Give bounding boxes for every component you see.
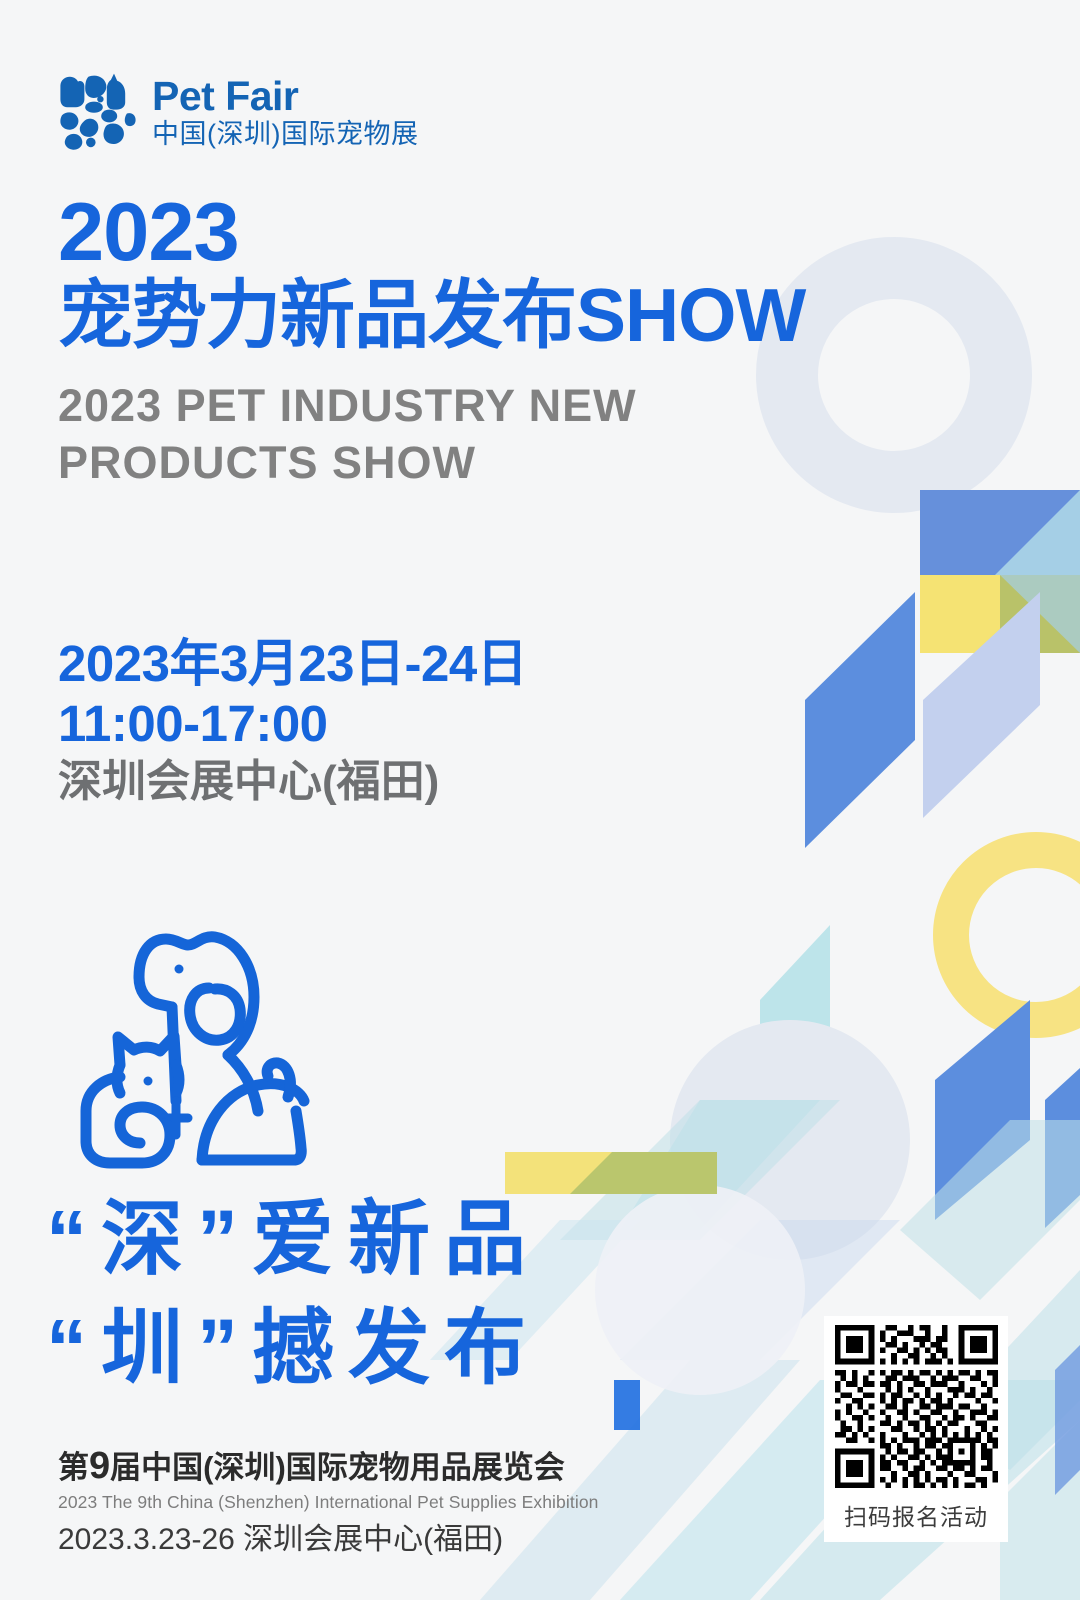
- footer-title-cn: 第9届中国(深圳)国际宠物用品展览会: [58, 1443, 598, 1489]
- footer-title-prefix: 第: [58, 1450, 89, 1485]
- headline-subtitle-line1: 2023 PET INDUSTRY NEW: [58, 377, 805, 435]
- pale-circle-low: [595, 1185, 805, 1395]
- footer-title-en: 2023 The 9th China (Shenzhen) Internatio…: [58, 1491, 598, 1515]
- headline-subtitle-line2: PRODUCTS SHOW: [58, 434, 805, 492]
- deco-sliver-periwinkle-1: [1055, 1345, 1080, 1495]
- slogan-line-2: “圳”撼发布: [46, 1294, 540, 1403]
- qr-code-icon[interactable]: [835, 1325, 998, 1488]
- event-venue: 深圳会展中心(福田): [58, 756, 527, 808]
- pet-fair-logo: Pet Fair 中国(深圳)国际宠物展: [58, 72, 418, 152]
- pet-fair-animal-collage-logo-icon: [58, 72, 138, 152]
- poster-canvas: Pet Fair 中国(深圳)国际宠物展 2023 宠势力新品发布SHOW 20…: [0, 0, 1080, 1600]
- footer-title-suffix: 届中国(深圳)国际宠物用品展览会: [110, 1450, 565, 1485]
- headline-main-title: 宠势力新品发布SHOW: [58, 276, 805, 355]
- qr-registration-card[interactable]: 扫码报名活动: [824, 1316, 1008, 1542]
- slogan-block: “深”爱新品 “圳”撼发布: [46, 1185, 540, 1403]
- footer-block: 第9届中国(深圳)国际宠物用品展览会 2023 The 9th China (S…: [58, 1443, 598, 1559]
- dog-and-cat-line-art-icon: [42, 905, 342, 1175]
- qr-caption: 扫码报名活动: [844, 1498, 988, 1532]
- deco-parallelogram-periwinkle-1: [805, 592, 915, 848]
- logo-chinese-text: 中国(深圳)国际宠物展: [152, 121, 418, 148]
- slogan-line-1: “深”爱新品: [46, 1185, 540, 1294]
- event-date: 2023年3月23日-24日: [58, 634, 527, 694]
- event-info-block: 2023年3月23日-24日 11:00-17:00 深圳会展中心(福田): [58, 634, 527, 808]
- headline-year: 2023: [58, 193, 805, 272]
- deco-sliver-blue-1: [614, 1380, 640, 1430]
- footer-date-venue: 2023.3.23-26 深圳会展中心(福田): [58, 1520, 598, 1559]
- yellow-ring: [951, 850, 1080, 1020]
- deco-diagonal-band-6: [900, 1120, 1080, 1300]
- headline-subtitle: 2023 PET INDUSTRY NEW PRODUCTS SHOW: [58, 377, 805, 492]
- pale-ring-top-right: [787, 268, 1001, 482]
- footer-edition-number: 9: [89, 1445, 110, 1487]
- logo-english-text: Pet Fair: [152, 76, 418, 117]
- headline-block: 2023 宠势力新品发布SHOW 2023 PET INDUSTRY NEW P…: [58, 193, 805, 492]
- event-time: 11:00-17:00: [58, 694, 527, 754]
